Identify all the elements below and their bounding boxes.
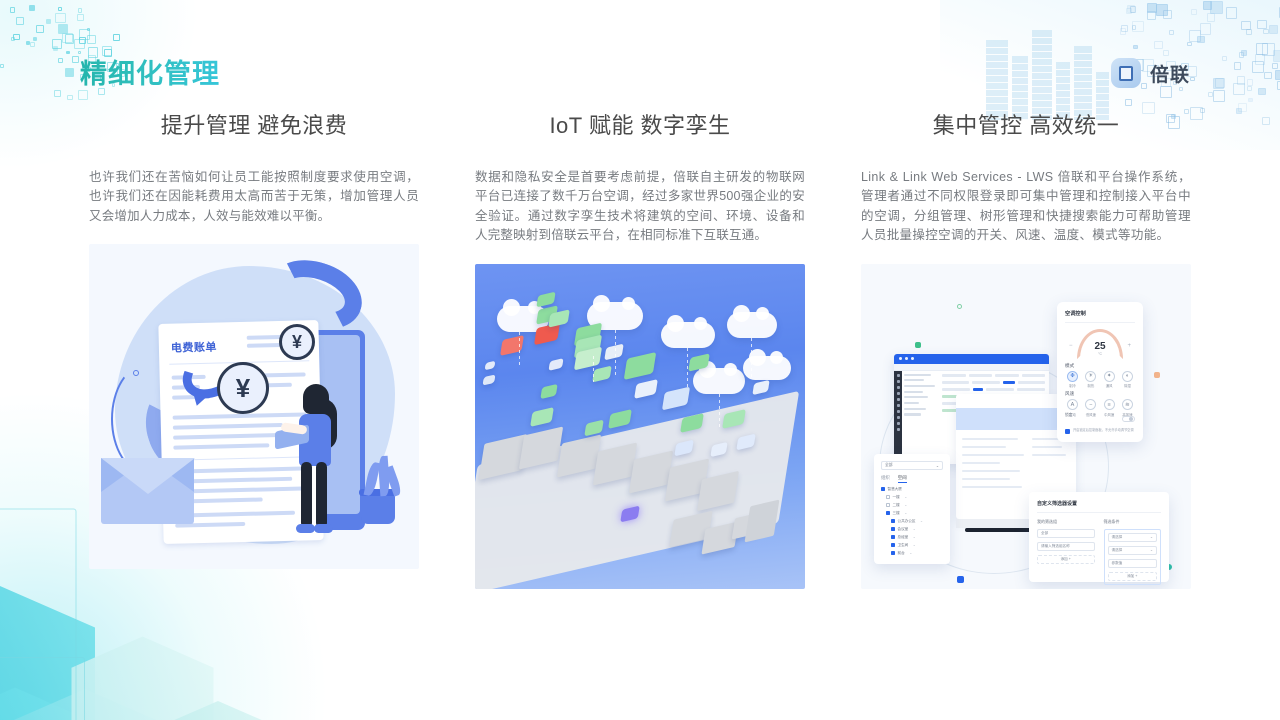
building-window-line bbox=[1032, 58, 1052, 59]
building-window-line bbox=[1074, 102, 1092, 103]
ac-panel-title: 空调控制 bbox=[1065, 310, 1135, 317]
pixel-square bbox=[1132, 21, 1144, 33]
building-window-line bbox=[1056, 97, 1070, 98]
pixel-square bbox=[1163, 10, 1172, 19]
pixel-square bbox=[1226, 7, 1237, 18]
content-columns: 提升管理 避免浪费 也许我们还在苦恼如何让员工能按照制度要求使用空调，也许我们还… bbox=[0, 108, 1280, 589]
pixel-square bbox=[1252, 61, 1264, 73]
condition-value-2: 请选择 bbox=[1112, 548, 1123, 553]
dialog-left-label: 我的筛选组 bbox=[1037, 519, 1095, 525]
building-window-line bbox=[1074, 60, 1092, 61]
condition-field-2[interactable]: 请选择 ⌄ bbox=[1108, 546, 1158, 555]
person-with-laptop bbox=[289, 384, 339, 544]
ac-option-label: 制热 bbox=[1083, 383, 1098, 388]
floating-data-tile bbox=[662, 386, 690, 410]
hexagon-outline bbox=[0, 657, 85, 720]
building-window-line bbox=[1032, 93, 1052, 94]
pixel-square bbox=[87, 35, 96, 44]
decorative-square bbox=[957, 576, 964, 583]
filter-group-value-1: 全部 bbox=[1041, 531, 1048, 536]
chevron-down-icon[interactable]: ⌄ bbox=[913, 527, 916, 531]
pixel-square bbox=[55, 13, 65, 23]
pixel-square bbox=[11, 37, 15, 41]
platform-ui-mockup-illustration: 空调控制 − + 25 °C 模式 ❉制冷☀制热✦通风◐除湿 风速 A自动−低风… bbox=[861, 264, 1191, 589]
pixel-square bbox=[1163, 50, 1169, 56]
pixel-square bbox=[1215, 78, 1225, 88]
tree-node[interactable]: 智慧大厦 bbox=[881, 487, 943, 492]
ac-option[interactable]: −低风速 bbox=[1083, 399, 1098, 417]
dialog-title: 自定义筛选器设置 bbox=[1037, 500, 1161, 507]
pixel-square bbox=[1263, 29, 1269, 35]
dialog-right-label: 筛选条件 bbox=[1104, 519, 1162, 525]
pixel-square bbox=[1213, 78, 1224, 89]
building-window-line bbox=[1074, 67, 1092, 68]
building-window-line bbox=[986, 68, 1008, 69]
column-3-heading: 集中管控 高效统一 bbox=[861, 108, 1191, 140]
ac-option-label: 低风速 bbox=[1083, 412, 1098, 417]
floating-data-tile bbox=[485, 360, 496, 370]
ac-option[interactable]: ◐除湿 bbox=[1120, 371, 1135, 389]
pixel-square bbox=[79, 29, 90, 40]
building-window-line bbox=[1096, 86, 1109, 87]
cloud-service-icon bbox=[693, 368, 745, 394]
pixel-square bbox=[54, 90, 61, 97]
ac-option[interactable]: ≡中风速 bbox=[1102, 399, 1117, 417]
pixel-square bbox=[72, 56, 79, 63]
brand-name: 倍联 bbox=[1150, 60, 1190, 87]
building-window-line bbox=[1032, 51, 1052, 52]
ac-option[interactable]: ❉制冷 bbox=[1065, 371, 1080, 389]
pixel-square bbox=[1189, 30, 1201, 42]
column-2: IoT 赋能 数字孪生 数据和隐私安全是首要考虑前提，倍联自主研发的物联网平台已… bbox=[475, 108, 805, 589]
tree-checkbox[interactable] bbox=[881, 487, 885, 491]
building-window-line bbox=[1032, 100, 1052, 101]
tree-node[interactable]: 二楼⌄ bbox=[881, 503, 943, 508]
connection-line bbox=[751, 338, 752, 378]
floating-data-tile bbox=[548, 358, 563, 371]
filter-tabs: 组织 空间 bbox=[881, 475, 943, 483]
building-window-line bbox=[986, 54, 1008, 55]
pixel-square bbox=[74, 39, 85, 50]
ac-option-label: 中风速 bbox=[1102, 412, 1117, 417]
electricity-bill-illustration: 电费账单 bbox=[89, 244, 419, 569]
chevron-down-icon: ⌄ bbox=[1150, 548, 1153, 552]
connection-line bbox=[719, 394, 720, 428]
tree-node-label: 二楼 bbox=[893, 503, 900, 508]
decorative-square bbox=[915, 342, 921, 348]
pixel-square bbox=[77, 14, 84, 21]
window-toolbar bbox=[894, 364, 1049, 371]
hexagon-shape bbox=[72, 637, 214, 720]
pixel-square bbox=[1247, 86, 1252, 91]
pixel-square bbox=[36, 25, 44, 33]
building-window-line bbox=[986, 47, 1008, 48]
dialog-right-column: 筛选条件 请选择 ⌄ 请选择 ⌄ 参数值 bbox=[1104, 519, 1162, 585]
pixel-square bbox=[78, 90, 88, 100]
tree-checkbox[interactable] bbox=[891, 551, 895, 555]
floating-data-tile bbox=[634, 379, 658, 399]
pixel-square bbox=[65, 68, 74, 77]
pixel-square bbox=[33, 37, 37, 41]
filter-condition-box: 请选择 ⌄ 请选择 ⌄ 参数值 添加 + bbox=[1104, 529, 1162, 585]
pixel-square bbox=[113, 34, 120, 41]
building-window-line bbox=[1012, 105, 1028, 106]
lock-note-row: 开启锁定后控制面板，不允许手动调节空调 bbox=[1065, 428, 1134, 434]
add-condition-button[interactable]: 添加 + bbox=[1108, 572, 1158, 581]
pixel-square bbox=[0, 64, 4, 68]
tree-node-label: 前台 bbox=[898, 551, 905, 556]
hexagon-shape bbox=[0, 689, 171, 720]
pixel-square bbox=[46, 19, 51, 24]
pixel-square bbox=[79, 37, 86, 44]
building-window-line bbox=[1074, 88, 1092, 89]
ac-option[interactable]: ≋高风速 bbox=[1120, 399, 1135, 417]
floating-data-tile bbox=[624, 351, 657, 379]
pixel-square bbox=[58, 7, 63, 12]
pixel-square bbox=[1191, 9, 1197, 15]
tree-node[interactable]: 卫生间⌄ bbox=[881, 543, 943, 548]
building-window-line bbox=[1074, 74, 1092, 75]
chevron-down-icon: ⌄ bbox=[1150, 535, 1153, 539]
floating-data-tile bbox=[536, 291, 555, 307]
pixel-square bbox=[58, 58, 63, 63]
pixel-square bbox=[52, 39, 62, 49]
condition-value-3: 参数值 bbox=[1112, 561, 1123, 566]
window-title-bar bbox=[894, 354, 1049, 364]
column-1-body: 也许我们还在苦恼如何让员工能按照制度要求使用空调，也许我们还在因能耗费用太高而苦… bbox=[89, 168, 419, 226]
logo-inner-square bbox=[1119, 66, 1133, 81]
high-fan-icon: ≋ bbox=[1122, 399, 1133, 410]
building-window-line bbox=[1032, 79, 1052, 80]
connection-line bbox=[593, 356, 594, 382]
ac-option-label: 除湿 bbox=[1120, 383, 1135, 388]
column-2-body: 数据和隐私安全是首要考虑前提，倍联自主研发的物联网平台已连接了数千万台空调，经过… bbox=[475, 168, 805, 246]
yen-coin-small: ¥ bbox=[279, 324, 315, 360]
fan-icon: ✦ bbox=[1104, 371, 1115, 382]
pixel-square bbox=[1133, 45, 1138, 50]
pixel-square bbox=[1213, 90, 1225, 102]
auto-icon: A bbox=[1067, 399, 1078, 410]
tree-node-label: 卫生间 bbox=[898, 543, 909, 548]
building-window-line bbox=[1032, 86, 1052, 87]
column-2-heading: IoT 赋能 数字孪生 bbox=[475, 108, 805, 140]
pixel-square bbox=[1247, 79, 1253, 85]
pixel-square bbox=[67, 95, 72, 100]
building-window-line bbox=[1012, 98, 1028, 99]
tree-checkbox[interactable] bbox=[886, 495, 890, 499]
mid-fan-icon: ≡ bbox=[1104, 399, 1115, 410]
building-window-line bbox=[1012, 70, 1028, 71]
decorative-square bbox=[1154, 372, 1160, 378]
sun-icon: ☀ bbox=[1085, 371, 1096, 382]
snowflake-icon: ❉ bbox=[1067, 371, 1078, 382]
pixel-square bbox=[26, 41, 30, 45]
yen-coin-large: ¥ bbox=[217, 362, 269, 414]
pixel-square bbox=[1132, 25, 1137, 30]
filter-group-field-2[interactable]: 请输入筛选组名称 bbox=[1037, 542, 1095, 551]
custom-filter-dialog[interactable]: 自定义筛选器设置 我的筛选组 全部 请输入筛选组名称 添加 + 筛 bbox=[1029, 492, 1169, 582]
space-filter-panel[interactable]: 全部 ⌄ 组织 空间 智慧大厦一楼⌄二楼⌄三楼⌄公共办公区⌄会议室⌄总经室⌄卫生… bbox=[874, 454, 950, 564]
building-window-line bbox=[1012, 63, 1028, 64]
floating-data-tile bbox=[592, 365, 612, 382]
pixel-square bbox=[1127, 5, 1134, 12]
building-window-line bbox=[1032, 37, 1052, 38]
chevron-down-icon[interactable]: ⌄ bbox=[920, 519, 923, 523]
pixel-square bbox=[1126, 8, 1132, 14]
pixel-square bbox=[1200, 23, 1212, 35]
floating-data-tile bbox=[540, 383, 557, 398]
connection-line bbox=[519, 332, 520, 366]
droplet-icon: ◐ bbox=[1122, 371, 1133, 382]
lock-checkbox[interactable] bbox=[1065, 429, 1070, 434]
tree-node[interactable]: 三楼⌄ bbox=[881, 511, 943, 516]
lock-toggle[interactable] bbox=[1122, 416, 1135, 422]
pixel-square bbox=[1248, 98, 1253, 103]
pixel-square bbox=[1233, 83, 1245, 95]
pixel-square bbox=[65, 34, 74, 43]
column-3: 集中管控 高效统一 Link & Link Web Services - LWS… bbox=[861, 108, 1191, 589]
rounded-square-logo-icon bbox=[1111, 58, 1141, 88]
cloud-service-icon bbox=[727, 312, 777, 338]
floating-data-tile bbox=[608, 409, 632, 429]
pixel-square bbox=[1147, 11, 1156, 20]
space-tree: 智慧大厦一楼⌄二楼⌄三楼⌄公共办公区⌄会议室⌄总经室⌄卫生间⌄前台⌄ bbox=[881, 487, 943, 556]
tree-node[interactable]: 公共办公区⌄ bbox=[881, 519, 943, 524]
pixel-square bbox=[1272, 63, 1278, 69]
building-window-line bbox=[1096, 93, 1109, 94]
building-window-line bbox=[1096, 79, 1109, 80]
pixel-square bbox=[1190, 77, 1195, 82]
chevron-down-icon: ⌄ bbox=[936, 463, 939, 468]
pixel-square bbox=[1130, 6, 1137, 13]
building-window-line bbox=[986, 82, 1008, 83]
hexagon-shape bbox=[149, 701, 287, 720]
lock-note: 开启锁定后控制面板，不允许手动调节空调 bbox=[1073, 428, 1134, 432]
mode-button-group: ❉制冷☀制热✦通风◐除湿 bbox=[1065, 371, 1135, 389]
tree-node[interactable]: 总经室⌄ bbox=[881, 535, 943, 540]
chevron-down-icon[interactable]: ⌄ bbox=[913, 535, 916, 539]
building-window-line bbox=[1096, 100, 1109, 101]
pixel-square bbox=[1147, 3, 1157, 13]
building-window-line bbox=[1056, 104, 1070, 105]
building-window-line bbox=[1074, 53, 1092, 54]
pixel-square bbox=[1156, 4, 1167, 15]
pixel-square bbox=[16, 17, 24, 25]
pixel-square bbox=[1210, 1, 1223, 14]
chevron-down-icon[interactable]: ⌄ bbox=[909, 551, 912, 555]
tree-checkbox[interactable] bbox=[886, 511, 890, 515]
floating-data-tile bbox=[752, 379, 769, 394]
decorative-dot bbox=[957, 304, 962, 309]
floating-data-tile bbox=[530, 407, 554, 427]
pixel-square bbox=[1197, 36, 1205, 44]
ac-control-panel[interactable]: 空调控制 − + 25 °C 模式 ❉制冷☀制热✦通风◐除湿 风速 A自动−低风… bbox=[1057, 302, 1143, 442]
floating-data-tile bbox=[584, 419, 604, 436]
building-window-line bbox=[1074, 95, 1092, 96]
temperature-increase-button[interactable]: + bbox=[1127, 343, 1131, 349]
pixel-square bbox=[1241, 50, 1247, 56]
scope-select-value: 全部 bbox=[885, 463, 893, 468]
pixel-square bbox=[1239, 52, 1244, 57]
building-window-line bbox=[1012, 84, 1028, 85]
pixel-square bbox=[1154, 41, 1163, 50]
building-window-line bbox=[1012, 91, 1028, 92]
connection-line bbox=[687, 348, 688, 390]
lock-label: 锁定 bbox=[1065, 413, 1073, 418]
tree-node-label: 公共办公区 bbox=[898, 519, 916, 524]
ac-option-label: 制冷 bbox=[1065, 383, 1080, 388]
pixel-square bbox=[1169, 30, 1174, 35]
pixel-square bbox=[1125, 99, 1132, 106]
column-1: 提升管理 避免浪费 也许我们还在苦恼如何让员工能按照制度要求使用空调，也许我们还… bbox=[89, 108, 419, 589]
pixel-square bbox=[1203, 1, 1212, 10]
pixel-square bbox=[1246, 29, 1252, 35]
isometric-digital-twin-illustration bbox=[475, 264, 805, 589]
hexagon-shape bbox=[0, 575, 95, 720]
building-bar bbox=[1032, 30, 1052, 120]
temperature-value: 25 bbox=[1077, 341, 1123, 352]
temperature-dial[interactable]: − + 25 °C bbox=[1077, 329, 1123, 359]
tree-checkbox[interactable] bbox=[891, 535, 895, 539]
pixel-square bbox=[1121, 25, 1127, 31]
chevron-down-icon[interactable]: ⌄ bbox=[904, 495, 907, 499]
add-filter-group-button[interactable]: 添加 + bbox=[1037, 555, 1095, 564]
pixel-square bbox=[78, 8, 83, 13]
building-window-line bbox=[986, 61, 1008, 62]
tab-space[interactable]: 空间 bbox=[898, 475, 907, 483]
building-window-line bbox=[986, 96, 1008, 97]
mode-section-label: 模式 bbox=[1065, 363, 1135, 369]
tab-organization[interactable]: 组织 bbox=[881, 475, 890, 483]
column-3-body: Link & Link Web Services - LWS 倍联和平台操作系统… bbox=[861, 168, 1191, 246]
tree-node[interactable]: 前台⌄ bbox=[881, 551, 943, 556]
floating-data-tile bbox=[482, 374, 495, 385]
building-window-line bbox=[1056, 83, 1070, 84]
pixel-square bbox=[58, 24, 68, 34]
tree-node[interactable]: 一楼⌄ bbox=[881, 495, 943, 500]
building-window-line bbox=[1012, 77, 1028, 78]
pixel-square bbox=[10, 7, 15, 12]
temperature-unit: °C bbox=[1077, 352, 1123, 356]
condition-value-1: 请选择 bbox=[1112, 535, 1123, 540]
building-window-line bbox=[1032, 65, 1052, 66]
scope-select[interactable]: 全部 ⌄ bbox=[881, 461, 943, 470]
building-window-line bbox=[986, 103, 1008, 104]
pixel-square bbox=[1277, 81, 1280, 90]
envelope-icon bbox=[101, 458, 194, 524]
building-window-line bbox=[1056, 76, 1070, 77]
low-fan-icon: − bbox=[1085, 399, 1096, 410]
pixel-square bbox=[1237, 76, 1246, 85]
building-window-line bbox=[986, 75, 1008, 76]
connection-line bbox=[615, 330, 616, 376]
temperature-decrease-button[interactable]: − bbox=[1069, 343, 1073, 349]
pixel-square bbox=[13, 34, 19, 40]
tree-node[interactable]: 会议室⌄ bbox=[881, 527, 943, 532]
pixel-square bbox=[30, 42, 36, 48]
tree-checkbox[interactable] bbox=[891, 527, 895, 531]
tree-checkbox[interactable] bbox=[891, 519, 895, 523]
column-1-heading: 提升管理 避免浪费 bbox=[89, 108, 419, 140]
fan-section-label: 风速 bbox=[1065, 391, 1135, 397]
tree-node-label: 三楼 bbox=[893, 511, 900, 516]
potted-plant bbox=[361, 492, 395, 524]
pixel-square bbox=[1255, 54, 1266, 65]
ac-option[interactable]: ☀制热 bbox=[1083, 371, 1098, 389]
fan-speed-button-group: A自动−低风速≡中风速≋高风速 bbox=[1065, 399, 1135, 417]
filter-group-value-2: 请输入筛选组名称 bbox=[1041, 544, 1070, 549]
pixel-square bbox=[1120, 28, 1126, 34]
tree-checkbox[interactable] bbox=[886, 503, 890, 507]
pixel-square bbox=[1264, 72, 1271, 79]
floating-data-tile bbox=[604, 343, 624, 360]
chevron-down-icon[interactable]: ⌄ bbox=[913, 543, 916, 547]
floating-data-tile bbox=[500, 335, 524, 356]
pixel-square bbox=[1222, 56, 1227, 61]
condition-field-3[interactable]: 参数值 bbox=[1108, 559, 1158, 568]
filter-group-field-1[interactable]: 全部 bbox=[1037, 529, 1095, 538]
window-sidebar bbox=[894, 371, 902, 464]
window-tree-panel bbox=[904, 374, 938, 420]
building-window-line bbox=[1074, 81, 1092, 82]
pixel-square bbox=[1187, 42, 1192, 47]
pixel-square bbox=[1234, 62, 1241, 69]
pixel-square bbox=[87, 28, 90, 31]
pixel-square bbox=[1262, 43, 1275, 56]
condition-field-1[interactable]: 请选择 ⌄ bbox=[1108, 533, 1158, 542]
building-window-line bbox=[1056, 90, 1070, 91]
pixel-square bbox=[1256, 43, 1268, 55]
building-window-line bbox=[1056, 69, 1070, 70]
pixel-square bbox=[1207, 13, 1216, 22]
chevron-down-icon[interactable]: ⌄ bbox=[904, 503, 907, 507]
pixel-square bbox=[1241, 21, 1250, 30]
brand-logo: 倍联 bbox=[1111, 58, 1190, 88]
ac-option-label: 通风 bbox=[1102, 383, 1117, 388]
pixel-square bbox=[1269, 25, 1278, 34]
pixel-square bbox=[53, 46, 58, 51]
pixel-square bbox=[1257, 20, 1266, 29]
building-window-line bbox=[986, 89, 1008, 90]
cloud-service-icon bbox=[661, 322, 715, 348]
tree-node-label: 总经室 bbox=[898, 535, 909, 540]
hexagon-shape bbox=[0, 688, 123, 720]
building-window-line bbox=[1032, 72, 1052, 73]
dialog-left-column: 我的筛选组 全部 请输入筛选组名称 添加 + bbox=[1037, 519, 1095, 585]
tree-node-label: 一楼 bbox=[893, 495, 900, 500]
pixel-square bbox=[62, 33, 73, 44]
building-window-line bbox=[1032, 44, 1052, 45]
tree-node-label: 会议室 bbox=[898, 527, 909, 532]
chevron-down-icon[interactable]: ⌄ bbox=[904, 511, 907, 515]
pixel-square bbox=[1273, 50, 1280, 61]
tree-checkbox[interactable] bbox=[891, 543, 895, 547]
pixel-square bbox=[66, 51, 69, 54]
ac-option[interactable]: ✦通风 bbox=[1102, 371, 1117, 389]
pixel-square bbox=[1258, 88, 1265, 95]
pixel-square bbox=[1275, 70, 1280, 80]
pixel-square bbox=[29, 5, 35, 11]
pixel-square bbox=[1208, 92, 1213, 97]
page-title: 精细化管理 bbox=[80, 52, 220, 91]
tree-node-label: 智慧大厦 bbox=[888, 487, 902, 492]
